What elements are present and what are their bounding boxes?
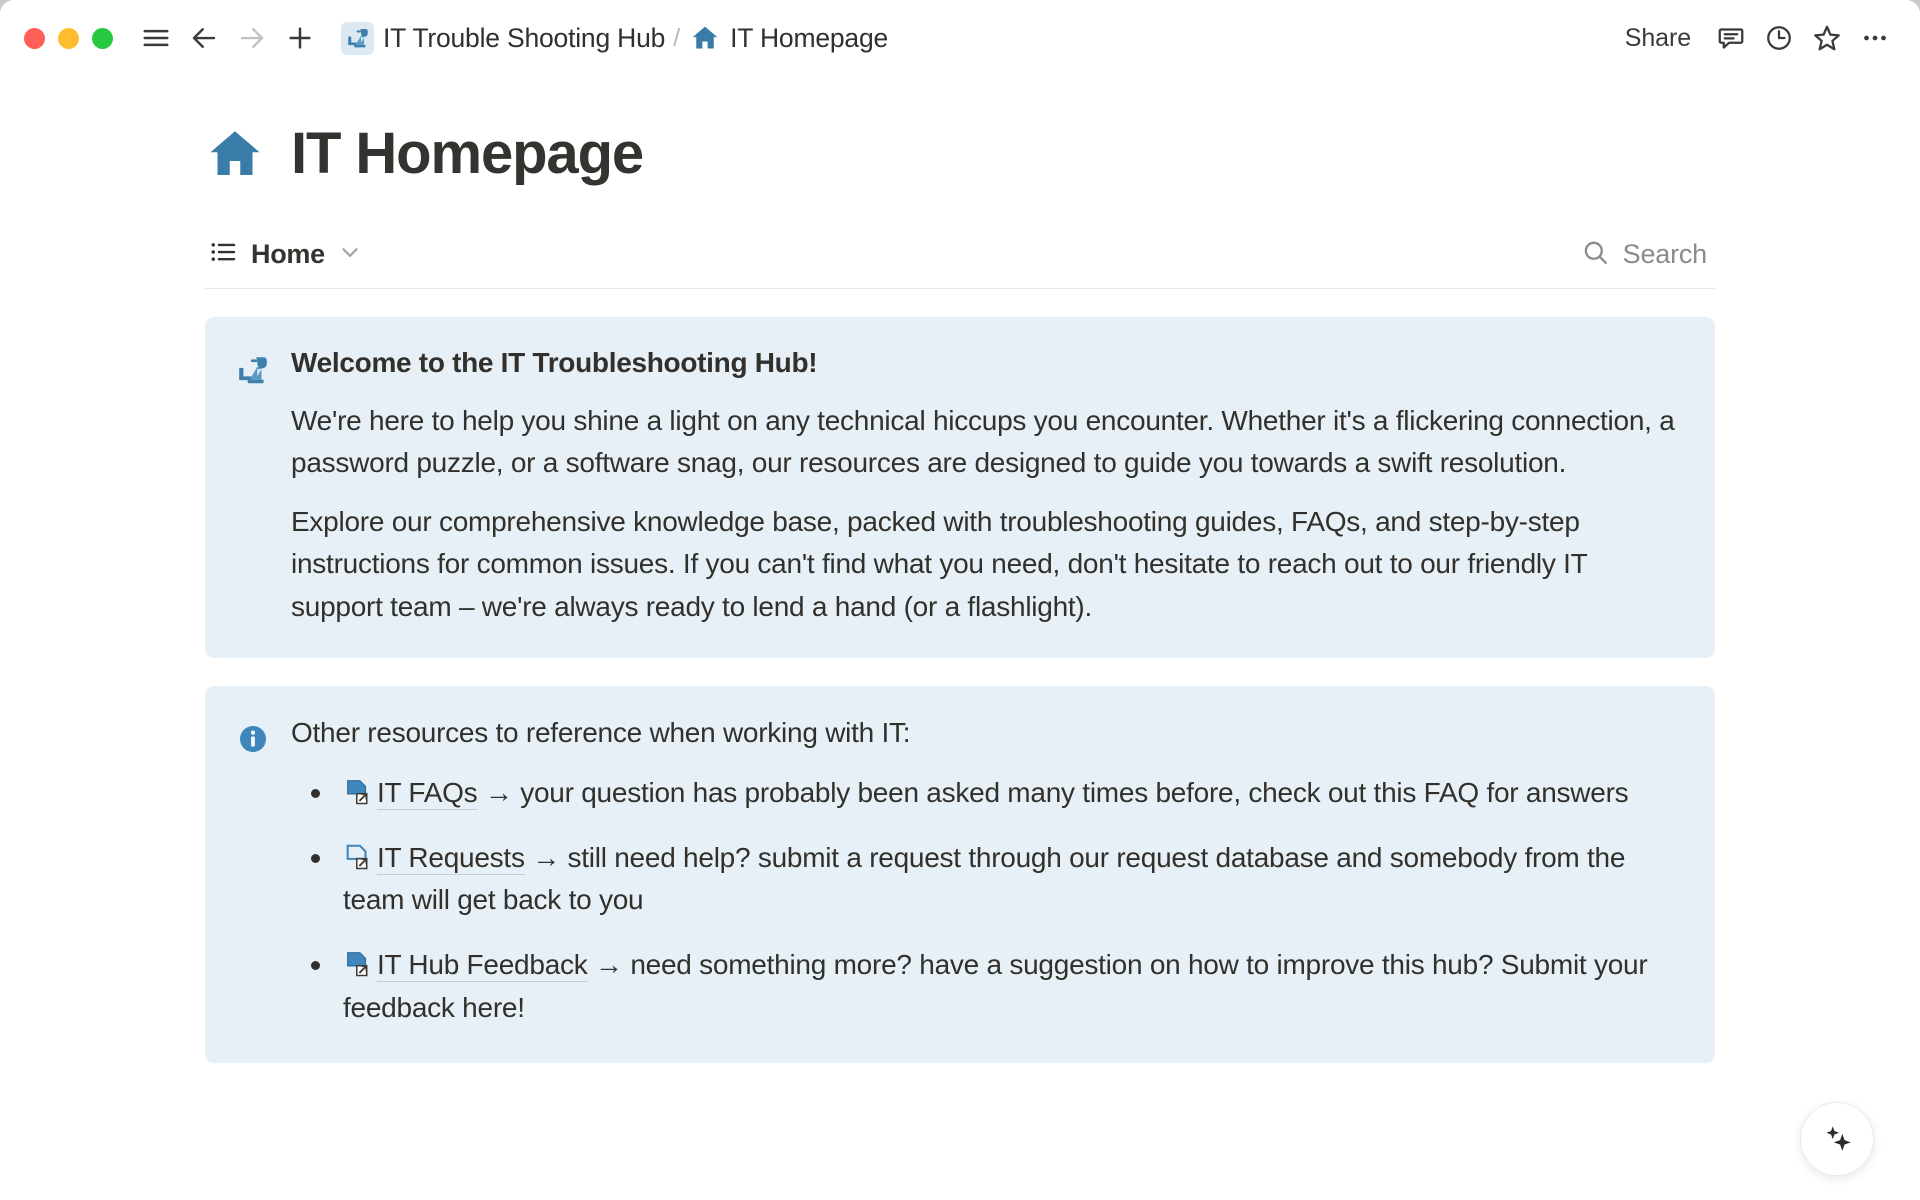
house-icon [205,124,265,184]
app-window: IT Trouble Shooting Hub / IT Homepage Sh… [0,0,1920,1200]
maximize-window-button[interactable] [92,28,113,49]
plus-icon[interactable] [279,17,321,59]
chevron-down-icon[interactable] [337,239,363,270]
titlebar-actions: Share [1612,0,1896,76]
forward-arrow-icon[interactable] [231,17,273,59]
callout-resources: Other resources to reference when workin… [205,686,1715,1063]
view-tab-bar: Home Search [205,231,1715,289]
traffic-lights [24,28,113,49]
list-item-text: → your question has probably been asked … [477,777,1628,808]
callout-welcome-paragraph-2: Explore our comprehensive knowledge base… [291,501,1681,629]
tab-home[interactable]: Home [205,233,367,286]
comment-icon[interactable] [1710,17,1752,59]
ai-sparkles-icon [1820,1120,1854,1159]
breadcrumb-item-parent[interactable]: IT Trouble Shooting Hub [335,18,671,59]
titlebar: IT Trouble Shooting Hub / IT Homepage Sh… [0,0,1920,76]
page-link-icon [343,949,373,979]
callout-resources-lead: Other resources to reference when workin… [291,712,1681,754]
callout-welcome: Welcome to the IT Troubleshooting Hub! W… [205,317,1715,658]
database-link-icon [343,842,373,872]
list-item-text: → still need help? submit a request thro… [343,842,1625,916]
technologist-icon [341,22,374,55]
callout-welcome-paragraph-1: We're here to help you shine a light on … [291,400,1681,485]
search-label: Search [1623,239,1707,270]
callout-resources-body: Other resources to reference when workin… [291,712,1681,1033]
page-link-icon [343,777,373,807]
nav-controls [135,17,321,59]
ellipsis-icon[interactable] [1854,17,1896,59]
clock-history-icon[interactable] [1758,17,1800,59]
callout-welcome-title: Welcome to the IT Troubleshooting Hub! [291,343,1681,384]
breadcrumb-separator: / [671,24,682,53]
resource-list: IT FAQs → your question has probably bee… [291,772,1681,1029]
house-icon [688,22,721,55]
list-item: IT Requests → still need help? submit a … [343,837,1681,922]
star-icon[interactable] [1806,17,1848,59]
ai-assistant-button[interactable] [1800,1102,1874,1176]
callout-welcome-body: Welcome to the IT Troubleshooting Hub! W… [291,343,1681,628]
close-window-button[interactable] [24,28,45,49]
breadcrumb: IT Trouble Shooting Hub / IT Homepage [335,18,894,59]
breadcrumb-parent-label: IT Trouble Shooting Hub [383,23,665,54]
share-button[interactable]: Share [1612,18,1704,59]
breadcrumb-current-label: IT Homepage [730,23,888,54]
list-item: IT FAQs → your question has probably bee… [343,772,1681,815]
minimize-window-button[interactable] [58,28,79,49]
sidebar-toggle-icon[interactable] [135,17,177,59]
page-title-row: IT Homepage [205,120,1920,187]
tab-home-label: Home [251,239,325,270]
page-content: IT Homepage Home [0,120,1920,1063]
link-it-faqs[interactable]: IT FAQs [377,777,477,810]
search-icon [1581,238,1610,272]
list-view-icon [209,237,239,272]
search-button[interactable]: Search [1573,234,1715,286]
list-item: IT Hub Feedback → need something more? h… [343,944,1681,1029]
back-arrow-icon[interactable] [183,17,225,59]
page-title: IT Homepage [291,120,643,187]
link-it-hub-feedback[interactable]: IT Hub Feedback [377,949,588,982]
technologist-icon [235,352,271,388]
breadcrumb-item-current[interactable]: IT Homepage [682,18,894,59]
link-it-requests[interactable]: IT Requests [377,842,525,875]
info-icon [235,721,271,757]
